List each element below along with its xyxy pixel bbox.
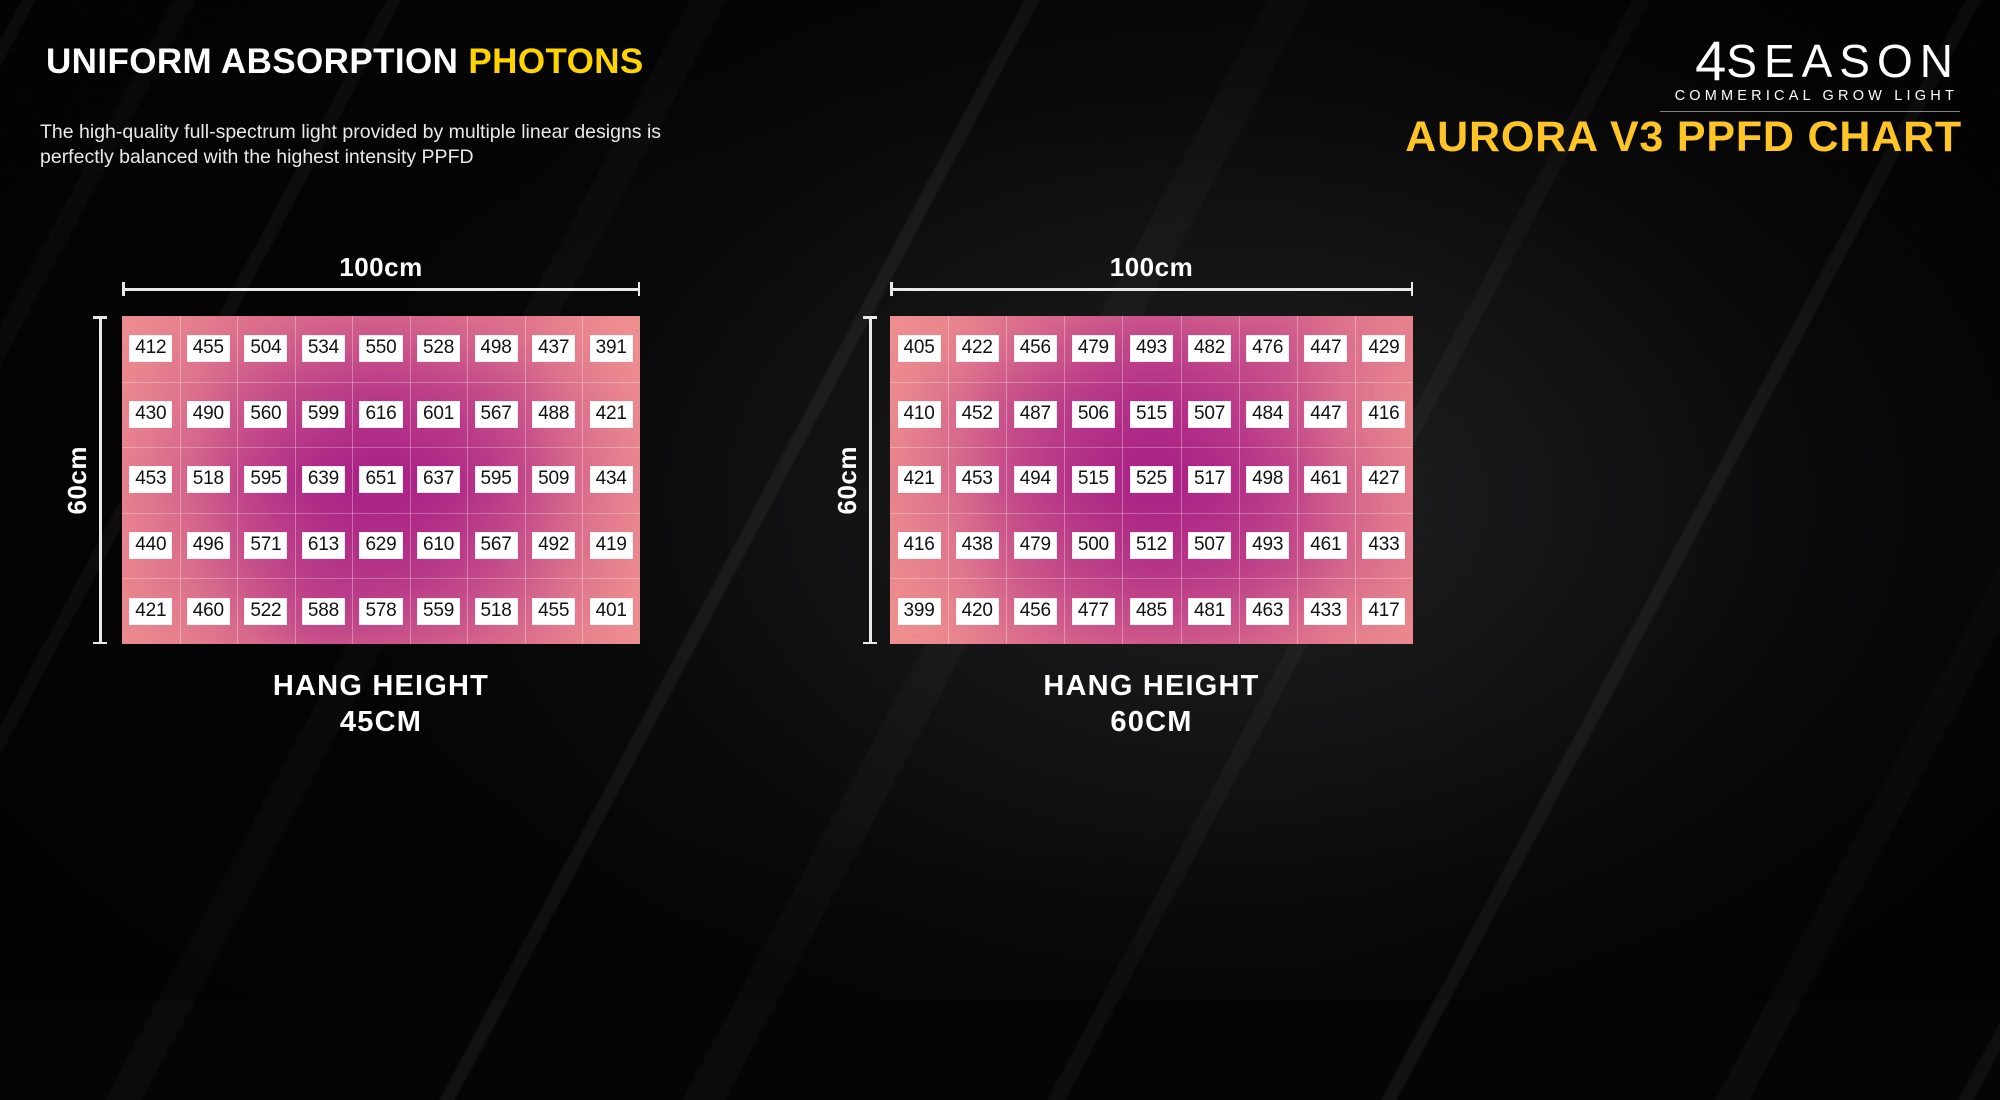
ppfd-value: 500: [1073, 533, 1114, 558]
ppfd-value: 421: [130, 599, 171, 624]
height-dimension-line: [869, 316, 872, 644]
heatmap-cell: 434: [582, 447, 640, 513]
heatmap-cell: 433: [1355, 513, 1413, 579]
ppfd-value: 455: [188, 336, 229, 361]
ppfd-value: 498: [1247, 467, 1288, 492]
ppfd-value: 509: [533, 467, 574, 492]
ppfd-value: 487: [1015, 402, 1056, 427]
ppfd-value: 433: [1305, 599, 1346, 624]
heatmap-cell: 447: [1297, 382, 1355, 448]
heatmap-cell: 422: [948, 316, 1006, 382]
ppfd-value: 522: [245, 599, 286, 624]
heatmap-cell: 410: [890, 382, 948, 448]
ppfd-value: 599: [303, 402, 344, 427]
heatmap-cell: 493: [1239, 513, 1297, 579]
ppfd-value: 391: [591, 336, 632, 361]
heatmap-cell: 639: [295, 447, 353, 513]
ppfd-value: 405: [899, 336, 940, 361]
ppfd-value: 613: [303, 533, 344, 558]
heatmap-cell: 416: [890, 513, 948, 579]
heatmap-cell: 567: [467, 382, 525, 448]
ppfd-value: 447: [1305, 402, 1346, 427]
heatmap-cell: 438: [948, 513, 1006, 579]
heatmap-cell: 616: [352, 382, 410, 448]
height-dimension-label: 60cm: [832, 446, 863, 515]
ppfd-value: 452: [957, 402, 998, 427]
heatmap-cell: 481: [1181, 578, 1239, 644]
heatmap-cell: 391: [582, 316, 640, 382]
ppfd-value: 481: [1189, 599, 1230, 624]
ppfd-value: 421: [591, 402, 632, 427]
ppfd-value: 595: [245, 467, 286, 492]
height-dimension-label: 60cm: [62, 446, 93, 515]
heatmap-cell: 430: [122, 382, 180, 448]
ppfd-value: 507: [1189, 402, 1230, 427]
ppfd-value: 421: [899, 467, 940, 492]
height-dimension-line: [99, 316, 102, 644]
heatmap-cell: 578: [352, 578, 410, 644]
width-dimension-label: 100cm: [122, 252, 640, 283]
ppfd-value: 518: [188, 467, 229, 492]
heatmap-cell: 595: [237, 447, 295, 513]
heatmap-cell: 528: [410, 316, 468, 382]
ppfd-value: 440: [130, 533, 171, 558]
heatmap-cell: 420: [948, 578, 1006, 644]
heatmap-cell: 453: [122, 447, 180, 513]
ppfd-value: 494: [1015, 467, 1056, 492]
heatmap-cell: 461: [1297, 513, 1355, 579]
heatmap-cell: 447: [1297, 316, 1355, 382]
heatmap-cell: 456: [1006, 316, 1064, 382]
ppfd-value: 410: [899, 402, 940, 427]
ppfd-value: 453: [957, 467, 998, 492]
heatmap-cell: 479: [1064, 316, 1122, 382]
heatmap-cell: 637: [410, 447, 468, 513]
ppfd-value: 416: [899, 533, 940, 558]
ppfd-value: 525: [1131, 467, 1172, 492]
ppfd-value: 438: [957, 533, 998, 558]
heatmap-cell: 507: [1181, 382, 1239, 448]
heatmap-cell: 452: [948, 382, 1006, 448]
ppfd-value: 463: [1247, 599, 1288, 624]
ppfd-value: 488: [533, 402, 574, 427]
ppfd-value: 496: [188, 533, 229, 558]
ppfd-value: 433: [1363, 533, 1404, 558]
heatmap-cell: 455: [525, 578, 583, 644]
heatmap-cell: 599: [295, 382, 353, 448]
ppfd-value: 476: [1247, 336, 1288, 361]
width-dimension-45cm: 100cm: [122, 252, 640, 291]
ppfd-value: 498: [476, 336, 517, 361]
heatmap-cell: 412: [122, 316, 180, 382]
heatmap-cell: 479: [1006, 513, 1064, 579]
heatmap-cell: 500: [1064, 513, 1122, 579]
height-dimension-60cm: 60cm: [832, 316, 872, 644]
ppfd-heatmap-60cm: 4054224564794934824764474294104524875065…: [890, 316, 1413, 644]
heatmap-cell: 550: [352, 316, 410, 382]
ppfd-value: 506: [1073, 402, 1114, 427]
ppfd-value: 479: [1073, 336, 1114, 361]
ppfd-value: 430: [130, 402, 171, 427]
ppfd-value: 578: [360, 599, 401, 624]
ppfd-value: 460: [188, 599, 229, 624]
heatmap-cell: 427: [1355, 447, 1413, 513]
heatmap-cell: 534: [295, 316, 353, 382]
hang-height-title: HANG HEIGHT: [890, 668, 1413, 704]
ppfd-value: 422: [957, 336, 998, 361]
heatmap-cell: 515: [1064, 447, 1122, 513]
ppfd-value: 517: [1189, 467, 1230, 492]
ppfd-value: 484: [1247, 402, 1288, 427]
heatmap-cell: 588: [295, 578, 353, 644]
heatmap-cell: 421: [890, 447, 948, 513]
ppfd-value: 512: [1131, 533, 1172, 558]
width-dimension-label: 100cm: [890, 252, 1413, 283]
ppfd-value: 601: [418, 402, 459, 427]
heatmap-cell: 487: [1006, 382, 1064, 448]
ppfd-value: 560: [245, 402, 286, 427]
heatmap-cell: 567: [467, 513, 525, 579]
heatmap-cell: 417: [1355, 578, 1413, 644]
heatmap-cell: 437: [525, 316, 583, 382]
heatmap-cell: 455: [180, 316, 238, 382]
heatmap-cell: 463: [1239, 578, 1297, 644]
ppfd-value: 419: [591, 533, 632, 558]
heatmap-cell: 496: [180, 513, 238, 579]
heatmap-cell: 498: [467, 316, 525, 382]
ppfd-value: 528: [418, 336, 459, 361]
heatmap-cell: 484: [1239, 382, 1297, 448]
ppfd-value: 437: [533, 336, 574, 361]
heatmap-cell: 522: [237, 578, 295, 644]
heatmap-cell: 498: [1239, 447, 1297, 513]
hang-height-title: HANG HEIGHT: [122, 668, 640, 704]
heatmap-cell: 416: [1355, 382, 1413, 448]
ppfd-value: 416: [1363, 402, 1404, 427]
heatmap-cell: 571: [237, 513, 295, 579]
ppfd-value: 485: [1131, 599, 1172, 624]
ppfd-value: 455: [533, 599, 574, 624]
heatmap-cell: 610: [410, 513, 468, 579]
heatmap-cell: 651: [352, 447, 410, 513]
ppfd-value: 507: [1189, 533, 1230, 558]
heatmap-cell: 494: [1006, 447, 1064, 513]
hang-height-label-45cm: HANG HEIGHT45CM: [122, 668, 640, 740]
heatmap-cell: 461: [1297, 447, 1355, 513]
heatmap-cell: 507: [1181, 513, 1239, 579]
ppfd-value: 434: [591, 467, 632, 492]
ppfd-value: 447: [1305, 336, 1346, 361]
heatmap-cell: 488: [525, 382, 583, 448]
ppfd-value: 595: [476, 467, 517, 492]
ppfd-value: 493: [1131, 336, 1172, 361]
heatmap-cell: 515: [1122, 382, 1180, 448]
heatmap-cell: 493: [1122, 316, 1180, 382]
ppfd-value: 559: [418, 599, 459, 624]
width-dimension-60cm: 100cm: [890, 252, 1413, 291]
ppfd-value: 567: [476, 533, 517, 558]
heatmap-value-grid: 4054224564794934824764474294104524875065…: [890, 316, 1413, 644]
heatmap-cell: 421: [122, 578, 180, 644]
ppfd-value: 479: [1015, 533, 1056, 558]
heatmap-cell: 476: [1239, 316, 1297, 382]
ppfd-value: 456: [1015, 599, 1056, 624]
heatmap-cell: 399: [890, 578, 948, 644]
ppfd-value: 493: [1247, 533, 1288, 558]
ppfd-value: 504: [245, 336, 286, 361]
ppfd-value: 588: [303, 599, 344, 624]
heatmap-cell: 518: [467, 578, 525, 644]
heatmap-cell: 509: [525, 447, 583, 513]
ppfd-value: 399: [899, 599, 940, 624]
ppfd-value: 490: [188, 402, 229, 427]
heatmap-cell: 490: [180, 382, 238, 448]
hang-height-label-60cm: HANG HEIGHT60CM: [890, 668, 1413, 740]
heatmap-cell: 405: [890, 316, 948, 382]
heatmap-cell: 477: [1064, 578, 1122, 644]
ppfd-value: 567: [476, 402, 517, 427]
heatmap-cell: 401: [582, 578, 640, 644]
heatmap-cell: 560: [237, 382, 295, 448]
heatmap-cell: 613: [295, 513, 353, 579]
heatmap-cell: 518: [180, 447, 238, 513]
ppfd-value: 610: [418, 533, 459, 558]
heatmap-cell: 421: [582, 382, 640, 448]
heatmap-cell: 559: [410, 578, 468, 644]
hang-height-value: 45CM: [122, 704, 640, 740]
heatmap-cell: 419: [582, 513, 640, 579]
ppfd-value: 420: [957, 599, 998, 624]
heatmap-cell: 525: [1122, 447, 1180, 513]
ppfd-panel-60cm: 100cm60cm4054224564794934824764474294104…: [1000, 0, 2000, 1000]
ppfd-value: 492: [533, 533, 574, 558]
ppfd-value: 629: [360, 533, 401, 558]
heatmap-cell: 440: [122, 513, 180, 579]
ppfd-value: 534: [303, 336, 344, 361]
width-dimension-line: [122, 288, 640, 291]
heatmap-cell: 492: [525, 513, 583, 579]
ppfd-value: 482: [1189, 336, 1230, 361]
ppfd-value: 518: [476, 599, 517, 624]
heatmap-cell: 601: [410, 382, 468, 448]
heatmap-cell: 485: [1122, 578, 1180, 644]
ppfd-value: 461: [1305, 533, 1346, 558]
ppfd-value: 453: [130, 467, 171, 492]
ppfd-value: 616: [360, 402, 401, 427]
ppfd-value: 571: [245, 533, 286, 558]
heatmap-cell: 506: [1064, 382, 1122, 448]
hang-height-value: 60CM: [890, 704, 1413, 740]
heatmap-cell: 512: [1122, 513, 1180, 579]
ppfd-value: 651: [360, 467, 401, 492]
ppfd-value: 427: [1363, 467, 1404, 492]
heatmap-value-grid: 4124555045345505284984373914304905605996…: [122, 316, 640, 644]
ppfd-value: 429: [1363, 336, 1404, 361]
heatmap-cell: 504: [237, 316, 295, 382]
height-dimension-45cm: 60cm: [62, 316, 102, 644]
heatmap-cell: 460: [180, 578, 238, 644]
ppfd-value: 637: [418, 467, 459, 492]
heatmap-cell: 595: [467, 447, 525, 513]
ppfd-value: 515: [1073, 467, 1114, 492]
heatmap-cell: 517: [1181, 447, 1239, 513]
heatmap-cell: 429: [1355, 316, 1413, 382]
heatmap-cell: 456: [1006, 578, 1064, 644]
heatmap-cell: 629: [352, 513, 410, 579]
ppfd-heatmap-45cm: 4124555045345505284984373914304905605996…: [122, 316, 640, 644]
heatmap-cell: 482: [1181, 316, 1239, 382]
ppfd-value: 401: [591, 599, 632, 624]
ppfd-value: 550: [360, 336, 401, 361]
ppfd-value: 477: [1073, 599, 1114, 624]
heatmap-cell: 453: [948, 447, 1006, 513]
ppfd-value: 456: [1015, 336, 1056, 361]
ppfd-value: 461: [1305, 467, 1346, 492]
ppfd-value: 515: [1131, 402, 1172, 427]
ppfd-value: 639: [303, 467, 344, 492]
width-dimension-line: [890, 288, 1413, 291]
heatmap-cell: 433: [1297, 578, 1355, 644]
ppfd-value: 412: [130, 336, 171, 361]
ppfd-value: 417: [1363, 599, 1404, 624]
